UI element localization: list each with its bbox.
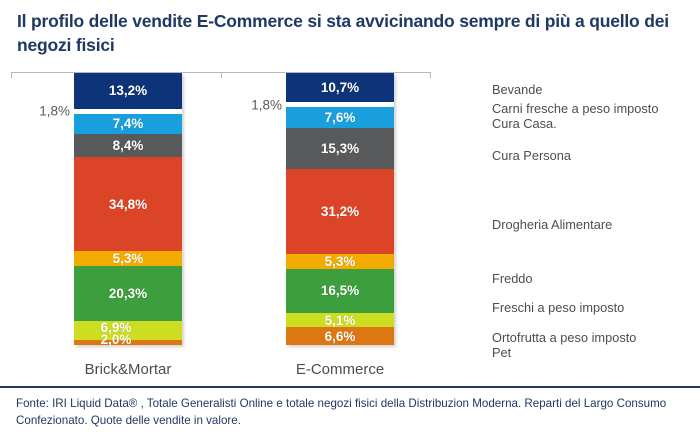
segment-pet[interactable]: 2,0% [74, 340, 182, 345]
segment-ortofrutta-a-peso-imposto[interactable]: 5,1% [286, 313, 394, 327]
segment-value-bevande: 13,2% [109, 83, 147, 98]
axis-tick-middle [221, 72, 222, 78]
segment-value-pet: 2,0% [101, 332, 132, 347]
segment-freschi-a-peso-imposto[interactable]: 16,5% [286, 269, 394, 314]
segment-value-freschi-a-peso-imposto: 20,3% [109, 286, 147, 301]
legend-item-drogheria-alimentare[interactable]: Drogheria Alimentare [492, 217, 612, 232]
bar-group-brick-and-mortar: 13,2% 1,8% 7,4% 8,4% 34,8% 5,3% 20,3% 6 [74, 73, 182, 345]
segment-value-freschi-a-peso-imposto: 16,5% [321, 283, 359, 298]
footer-divider [0, 386, 700, 388]
segment-value-pet: 6,6% [325, 329, 356, 344]
segment-cura-casa[interactable]: 7,6% [286, 107, 394, 128]
segment-cura-persona[interactable]: 8,4% [74, 134, 182, 157]
segment-value-freddo: 5,3% [113, 251, 144, 266]
stacked-bar-chart: 13,2% 1,8% 7,4% 8,4% 34,8% 5,3% 20,3% 6 [0, 62, 470, 367]
legend-item-cura-persona[interactable]: Cura Persona [492, 148, 571, 163]
segment-value-ortofrutta-a-peso-imposto: 5,1% [325, 313, 356, 328]
legend-item-cura-casa[interactable]: Cura Casa. [492, 116, 557, 131]
segment-value-carni-fresche: 1,8% [39, 104, 70, 119]
legend-item-freddo[interactable]: Freddo [492, 271, 533, 286]
segment-value-cura-casa: 7,6% [325, 110, 356, 125]
source-note: Fonte: IRI Liquid Data® , Totale General… [16, 395, 688, 429]
legend-item-ortofrutta-a-peso-imposto[interactable]: Ortofrutta a peso imposto [492, 330, 636, 345]
segment-value-cura-casa: 7,4% [113, 116, 144, 131]
segment-value-drogheria-alimentare: 31,2% [321, 204, 359, 219]
segment-freschi-a-peso-imposto[interactable]: 20,3% [74, 266, 182, 321]
legend-item-freschi-a-peso-imposto[interactable]: Freschi a peso imposto [492, 300, 624, 315]
legend-item-carni-fresche-a-peso-imposto[interactable]: Carni fresche a peso imposto [492, 101, 658, 116]
segment-bevande[interactable]: 10,7% [286, 73, 394, 102]
segment-value-cura-persona: 8,4% [113, 138, 144, 153]
category-label-brick-and-mortar: Brick&Mortar [74, 361, 182, 378]
segment-value-bevande: 10,7% [321, 80, 359, 95]
axis-tick-right [430, 72, 431, 78]
legend-item-bevande[interactable]: Bevande [492, 82, 543, 97]
segment-pet[interactable]: 6,6% [286, 327, 394, 345]
axis-tick-left [11, 72, 12, 78]
stacked-bar-brick-and-mortar: 13,2% 1,8% 7,4% 8,4% 34,8% 5,3% 20,3% 6 [74, 73, 182, 345]
segment-bevande[interactable]: 13,2% [74, 73, 182, 109]
legend-item-pet[interactable]: Pet [492, 345, 511, 360]
page-title: Il profilo delle vendite E-Commerce si s… [17, 9, 677, 57]
segment-value-freddo: 5,3% [325, 254, 356, 269]
segment-freddo[interactable]: 5,3% [286, 254, 394, 268]
segment-cura-casa[interactable]: 7,4% [74, 114, 182, 134]
segment-drogheria-alimentare[interactable]: 34,8% [74, 157, 182, 252]
chart-legend: Bevande Carni fresche a peso imposto Cur… [492, 62, 700, 367]
stacked-bar-e-commerce: 10,7% 1,8% 7,6% 15,3% 31,2% 5,3% 16,5% [286, 73, 394, 345]
segment-value-cura-persona: 15,3% [321, 141, 359, 156]
segment-value-drogheria-alimentare: 34,8% [109, 197, 147, 212]
category-label-e-commerce: E-Commerce [286, 361, 394, 378]
segment-freddo[interactable]: 5,3% [74, 251, 182, 265]
bar-group-e-commerce: 10,7% 1,8% 7,6% 15,3% 31,2% 5,3% 16,5% [286, 73, 394, 345]
segment-cura-persona[interactable]: 15,3% [286, 128, 394, 170]
segment-value-carni-fresche: 1,8% [251, 97, 282, 112]
segment-drogheria-alimentare[interactable]: 31,2% [286, 169, 394, 254]
